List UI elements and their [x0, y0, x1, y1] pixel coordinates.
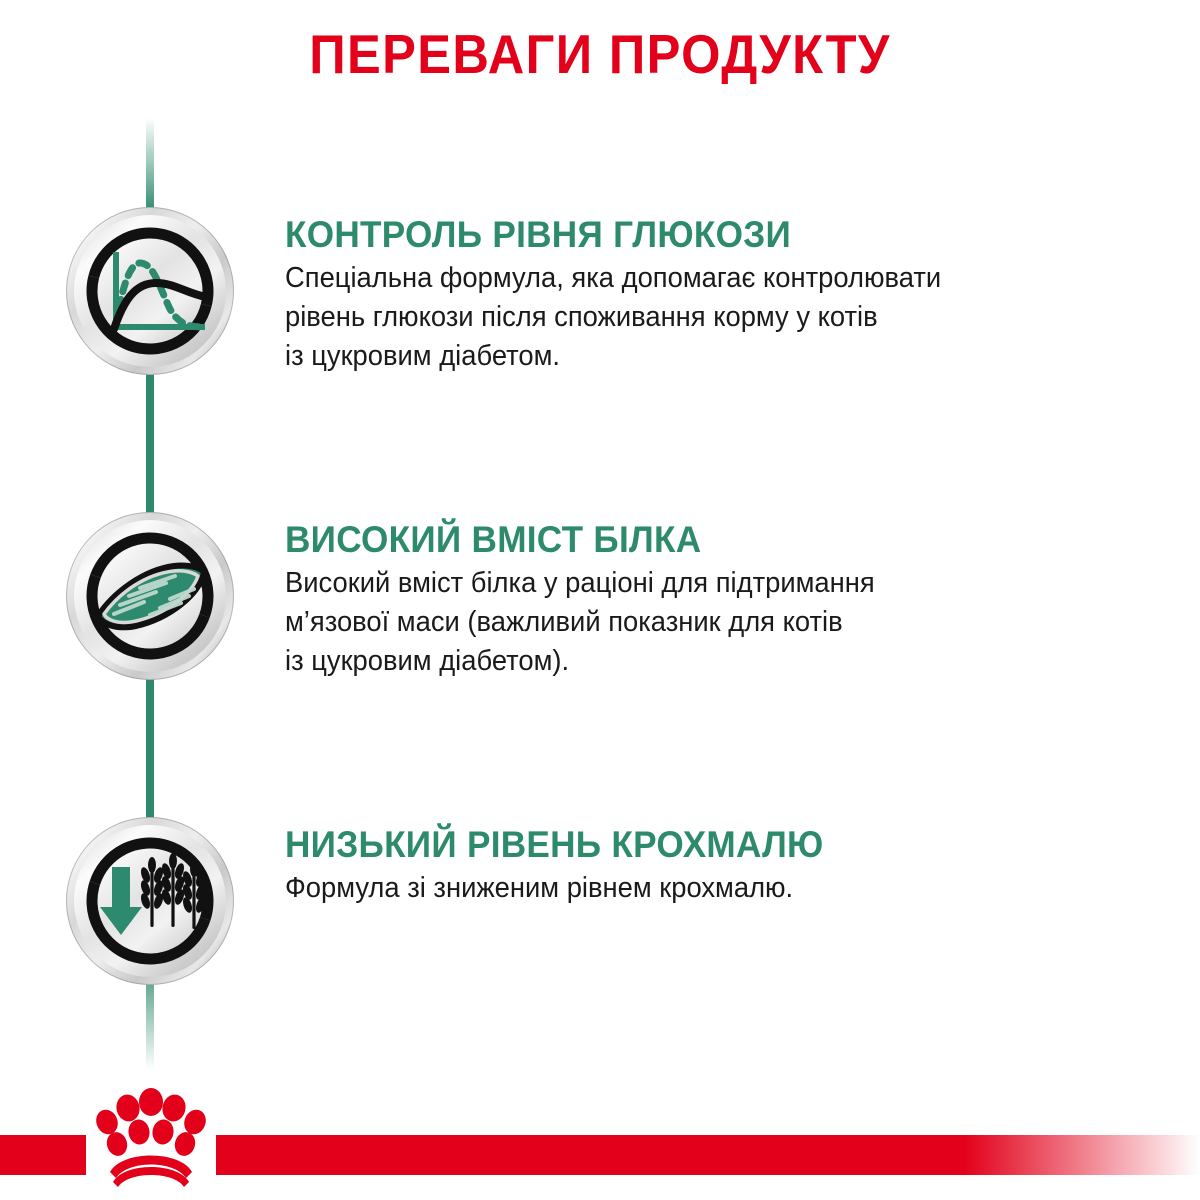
wheat-stalks: [139, 853, 207, 929]
benefit-body-line: рівень глюкози після споживання корму у …: [285, 298, 1082, 337]
benefit-heading: КОНТРОЛЬ РІВНЯ ГЛЮКОЗИ: [285, 215, 1074, 255]
benefit-body-line: Формула зі зниженим рівнем крохмалю.: [285, 869, 1082, 908]
benefit-item-glucose: КОНТРОЛЬ РІВНЯ ГЛЮКОЗИ Спеціальна формул…: [0, 207, 1200, 387]
benefit-body-line: із цукровим діабетом.: [285, 337, 1082, 376]
badge-inner-face: [74, 215, 226, 367]
benefit-item-protein: ВИСОКИЙ ВМІСТ БІЛКА Високий вміст білка …: [0, 512, 1200, 692]
footer-bar-right: [216, 1135, 1200, 1175]
badge-low-starch: [66, 817, 234, 985]
badge-inner-face: [74, 825, 226, 977]
benefit-text-glucose: КОНТРОЛЬ РІВНЯ ГЛЮКОЗИ Спеціальна формул…: [285, 215, 1115, 376]
benefit-body: Високий вміст білка у раціоні для підтри…: [285, 564, 1082, 681]
footer-bar-left: [0, 1135, 86, 1175]
low-starch-icon: [74, 825, 226, 977]
down-arrow-shape: [100, 867, 142, 935]
benefit-body-line: м’язової маси (важливий показник для кот…: [285, 603, 1082, 642]
badge-muscle-fiber: [66, 512, 234, 680]
benefit-body-line: Високий вміст білка у раціоні для підтри…: [285, 564, 1082, 603]
glucose-curve-icon: [74, 215, 226, 367]
benefit-heading: НИЗЬКИЙ РІВЕНЬ КРОХМАЛЮ: [285, 825, 1074, 865]
royal-canin-crown-logo: [86, 1080, 216, 1200]
benefit-body-line: Спеціальна формула, яка допомагає контро…: [285, 259, 1082, 298]
benefit-body: Формула зі зниженим рівнем крохмалю.: [285, 869, 1082, 908]
benefit-body-line: із цукровим діабетом).: [285, 642, 1082, 681]
page-title: ПЕРЕВАГИ ПРОДУКТУ: [48, 22, 1152, 86]
benefit-body: Спеціальна формула, яка допомагає контро…: [285, 259, 1082, 376]
benefit-text-protein: ВИСОКИЙ ВМІСТ БІЛКА Високий вміст білка …: [285, 520, 1115, 681]
muscle-fiber-icon: [74, 520, 226, 672]
benefit-heading: ВИСОКИЙ ВМІСТ БІЛКА: [285, 520, 1074, 560]
benefit-text-low-starch: НИЗЬКИЙ РІВЕНЬ КРОХМАЛЮ Формула зі зниже…: [285, 825, 1115, 908]
badge-inner-face: [74, 520, 226, 672]
benefit-item-low-starch: НИЗЬКИЙ РІВЕНЬ КРОХМАЛЮ Формула зі зниже…: [0, 817, 1200, 997]
badge-glucose-curve: [66, 207, 234, 375]
footer: [0, 1080, 1200, 1200]
